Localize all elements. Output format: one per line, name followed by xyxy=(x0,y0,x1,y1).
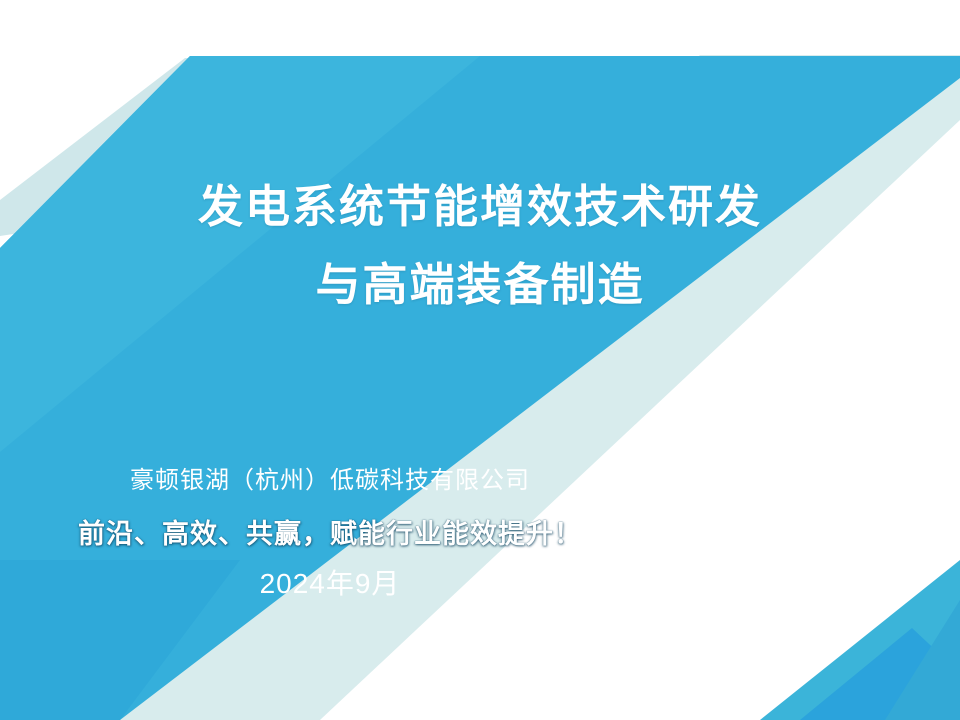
slide-title: 发电系统节能增效技术研发 与高端装备制造 xyxy=(0,168,960,324)
title-line-2: 与高端装备制造 xyxy=(0,246,960,324)
company-slogan: 前沿、高效、共赢，赋能行业能效提升！ xyxy=(0,512,660,551)
company-name: 豪顿银湖（杭州）低碳科技有限公司 xyxy=(0,460,660,495)
presentation-date: 2024年9月 xyxy=(0,562,660,602)
slide-text-layer: 发电系统节能增效技术研发 与高端装备制造 豪顿银湖（杭州）低碳科技有限公司 前沿… xyxy=(0,0,960,720)
title-line-1: 发电系统节能增效技术研发 xyxy=(0,168,960,246)
title-slide: 发电系统节能增效技术研发 与高端装备制造 豪顿银湖（杭州）低碳科技有限公司 前沿… xyxy=(0,0,960,720)
